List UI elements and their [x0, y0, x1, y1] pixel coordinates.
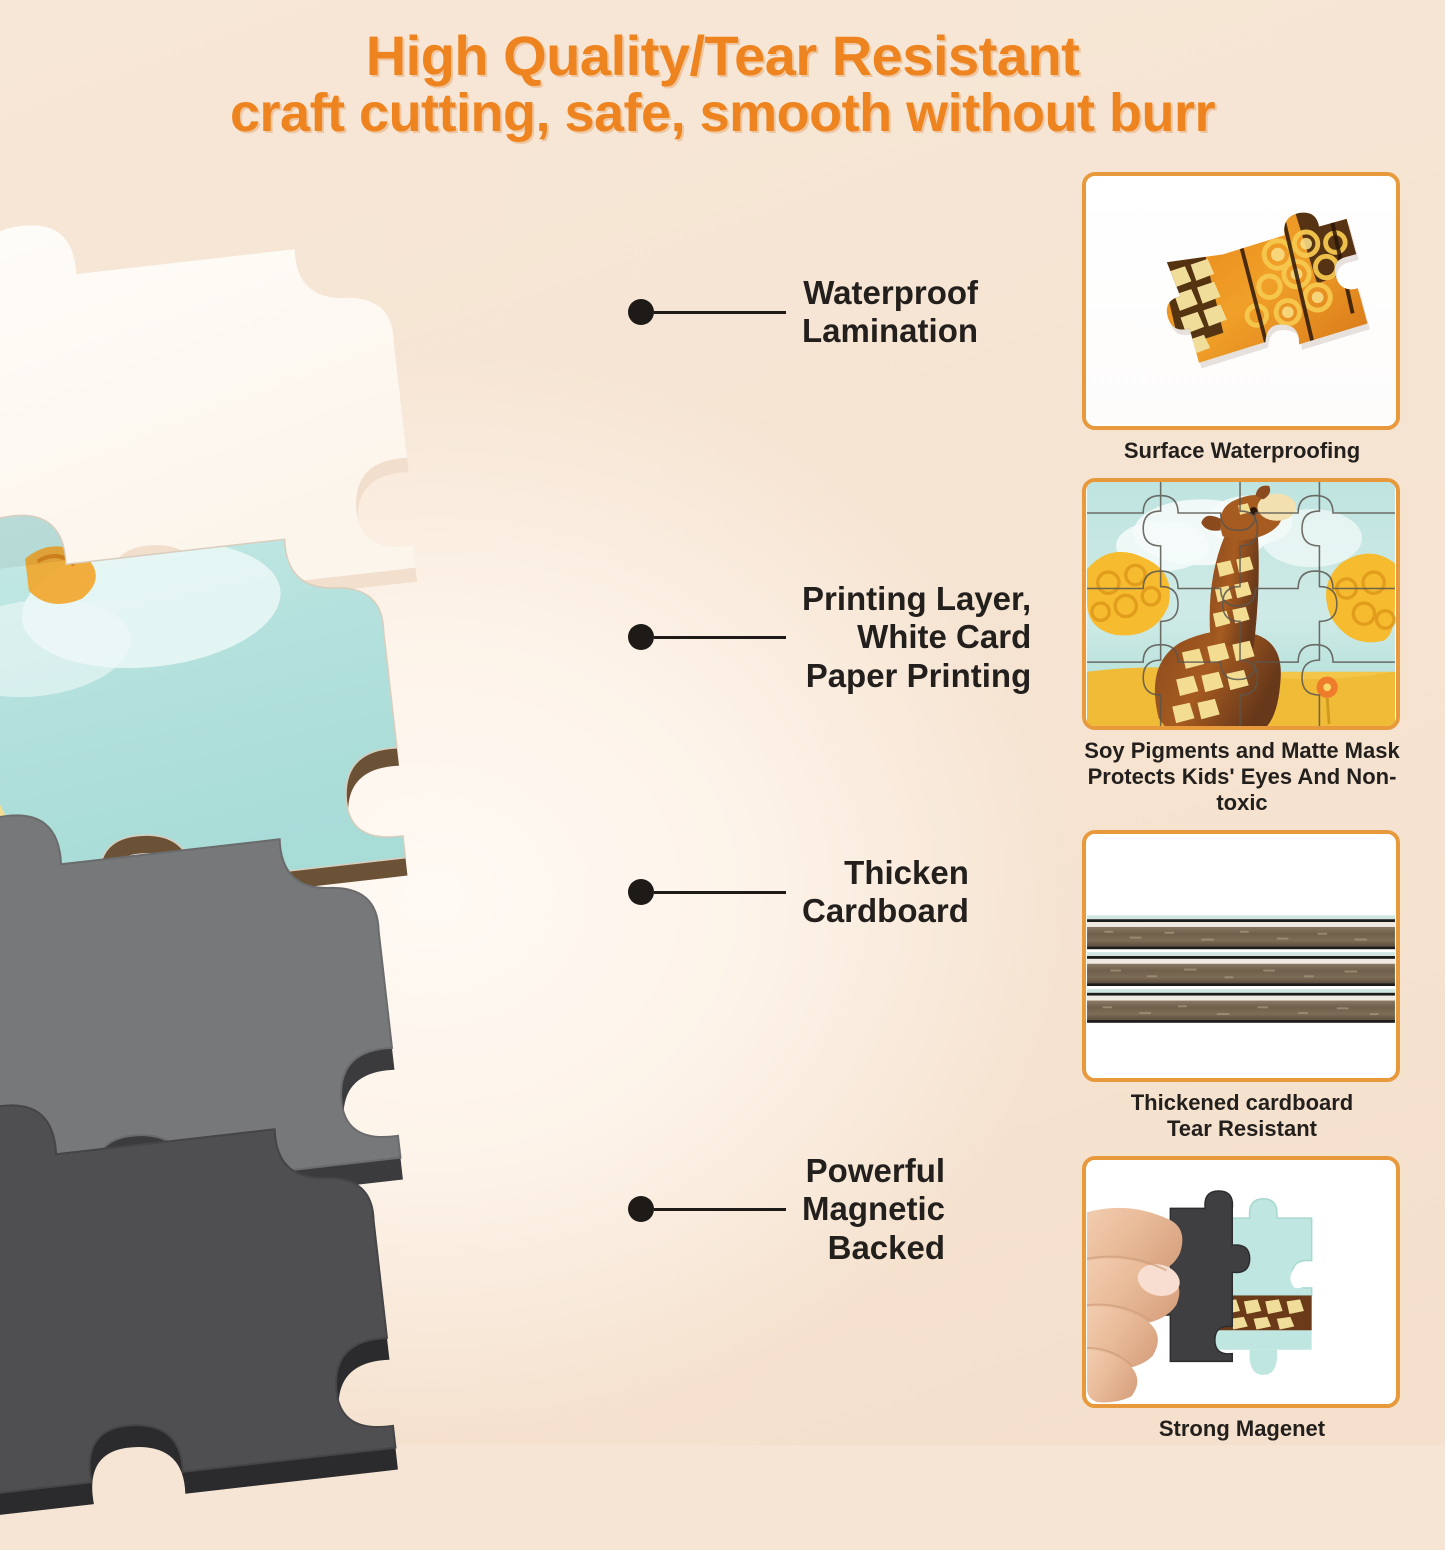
callout-leader-line — [654, 1208, 786, 1211]
feature-image-card — [1082, 830, 1400, 1082]
feature-caption-line: Surface Waterproofing — [1082, 438, 1402, 464]
feature-image-card — [1082, 478, 1400, 730]
single-printed-puzzle-piece-icon — [1086, 176, 1396, 426]
feature-caption: Soy Pigments and Matte Mask Protects Kid… — [1082, 738, 1402, 816]
feature-image-card — [1082, 172, 1400, 430]
feature-caption-line: Thickened cardboard — [1082, 1090, 1402, 1116]
feature-strong-magnet: Strong Magenet — [1082, 1156, 1402, 1442]
callout-thicken-cardboard: Thicken Cardboard — [628, 854, 969, 931]
feature-caption: Strong Magenet — [1082, 1416, 1402, 1442]
callout-dot-icon — [628, 299, 654, 325]
completed-giraffe-puzzle-icon — [1086, 482, 1396, 726]
callout-label-line: Printing Layer, — [802, 580, 1031, 618]
callout-label-line: Waterproof — [802, 274, 978, 312]
callout-label-line: Magnetic — [802, 1190, 945, 1228]
feature-soy-pigments: Soy Pigments and Matte Mask Protects Kid… — [1082, 478, 1402, 816]
feature-caption-line: Protects Kids' Eyes And Non-toxic — [1082, 764, 1402, 816]
feature-caption: Thickened cardboard Tear Resistant — [1082, 1090, 1402, 1142]
feature-thickened-cardboard: Thickened cardboard Tear Resistant — [1082, 830, 1402, 1142]
layer-magnetic-piece — [0, 1000, 494, 1550]
callout-printing-layer: Printing Layer, White Card Paper Printin… — [628, 580, 1031, 695]
callout-dot-icon — [628, 879, 654, 905]
feature-card-column: Surface Waterproofing — [1082, 172, 1402, 1456]
callout-label-line: Backed — [802, 1229, 945, 1267]
feature-image-card — [1082, 1156, 1400, 1408]
infographic-canvas: High Quality/Tear Resistant craft cuttin… — [0, 0, 1445, 1445]
callout-label-line: Paper Printing — [802, 657, 1031, 695]
feature-caption-line: Strong Magenet — [1082, 1416, 1402, 1442]
title-line-2: craft cutting, safe, smooth without burr — [0, 85, 1445, 142]
feature-caption: Surface Waterproofing — [1082, 438, 1402, 464]
title-line-1: High Quality/Tear Resistant — [0, 26, 1445, 85]
callout-dot-icon — [628, 1196, 654, 1222]
callout-leader-line — [654, 636, 786, 639]
feature-caption-line: Soy Pigments and Matte Mask — [1082, 738, 1402, 764]
callout-powerful-magnetic-backed: Powerful Magnetic Backed — [628, 1152, 945, 1267]
callout-label-line: Thicken — [802, 854, 969, 892]
callout-label: Waterproof Lamination — [802, 274, 978, 351]
callout-label-line: Powerful — [802, 1152, 945, 1190]
callout-label: Thicken Cardboard — [802, 854, 969, 931]
callout-waterproof-lamination: Waterproof Lamination — [628, 274, 978, 351]
callout-leader-line — [654, 311, 786, 314]
stacked-cardboard-edges-icon — [1086, 834, 1396, 1078]
callout-dot-icon — [628, 624, 654, 650]
callout-label-line: White Card — [802, 618, 1031, 656]
exploded-layer-illustration — [0, 150, 730, 1440]
feature-surface-waterproofing: Surface Waterproofing — [1082, 172, 1402, 464]
callout-label: Printing Layer, White Card Paper Printin… — [802, 580, 1031, 695]
callout-label-line: Lamination — [802, 312, 978, 350]
feature-caption-line: Tear Resistant — [1082, 1116, 1402, 1142]
hand-holding-magnetic-piece-icon — [1086, 1160, 1396, 1404]
callout-leader-line — [654, 891, 786, 894]
callout-label: Powerful Magnetic Backed — [802, 1152, 945, 1267]
callout-label-line: Cardboard — [802, 892, 969, 930]
page-title: High Quality/Tear Resistant craft cuttin… — [0, 26, 1445, 143]
